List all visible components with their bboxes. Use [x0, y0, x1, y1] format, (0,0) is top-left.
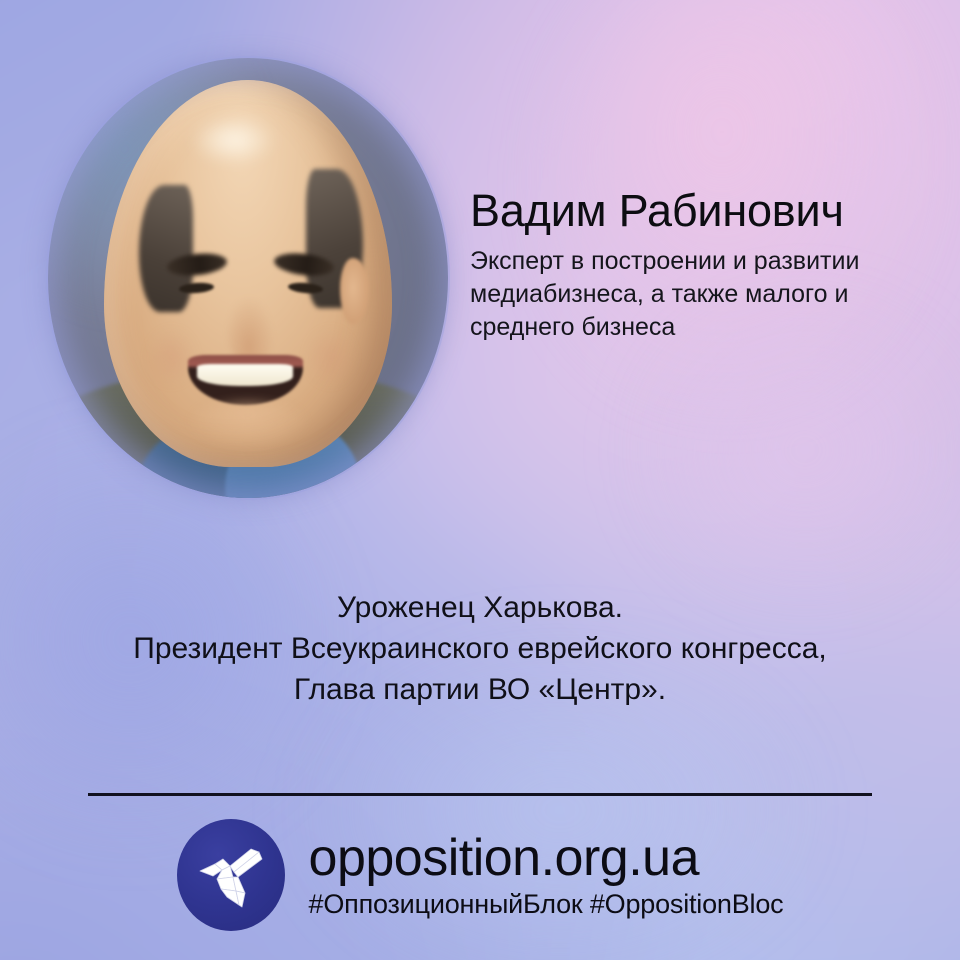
origami-dove-icon — [177, 819, 285, 931]
portrait-hair-left — [139, 185, 194, 313]
footer: opposition.org.ua #ОппозиционныйБлок #Op… — [0, 812, 960, 938]
portrait-teeth — [197, 364, 294, 386]
bio-line: Уроженец Харькова. — [0, 588, 960, 629]
speaker-card: Вадим Рабинович Эксперт в построении и р… — [0, 0, 960, 960]
portrait-cheek-left — [147, 328, 196, 386]
speaker-role: Эксперт в построении и развитии медиабиз… — [470, 245, 930, 344]
speaker-bio: Уроженец Харькова. Президент Всеукраинск… — [0, 588, 960, 710]
website-url[interactable]: opposition.org.ua — [309, 832, 699, 884]
bio-line: Глава партии ВО «Центр». — [0, 670, 960, 711]
speaker-role-line: Эксперт в построении и развитии — [470, 245, 930, 278]
speaker-role-line: медиабизнеса, а также малого и — [470, 278, 930, 311]
portrait-container — [48, 58, 448, 498]
footer-text: opposition.org.ua #ОппозиционныйБлок #Op… — [309, 832, 784, 918]
portrait-cheek-right — [306, 328, 355, 386]
portrait-scalp-highlight — [190, 115, 276, 165]
portrait-mouth — [188, 355, 303, 405]
divider — [88, 793, 872, 796]
bio-line: Президент Всеукраинского еврейского конг… — [0, 629, 960, 670]
speaker-info: Вадим Рабинович Эксперт в построении и р… — [470, 188, 930, 344]
hashtags: #ОппозиционныйБлок #OppositionBloc — [309, 891, 784, 918]
portrait-ear — [340, 258, 369, 324]
portrait-chin — [190, 401, 305, 447]
speaker-role-line: среднего бизнеса — [470, 311, 930, 344]
speaker-name: Вадим Рабинович — [470, 188, 930, 233]
background-blur-blob-right — [640, 300, 960, 600]
avatar — [48, 58, 448, 498]
